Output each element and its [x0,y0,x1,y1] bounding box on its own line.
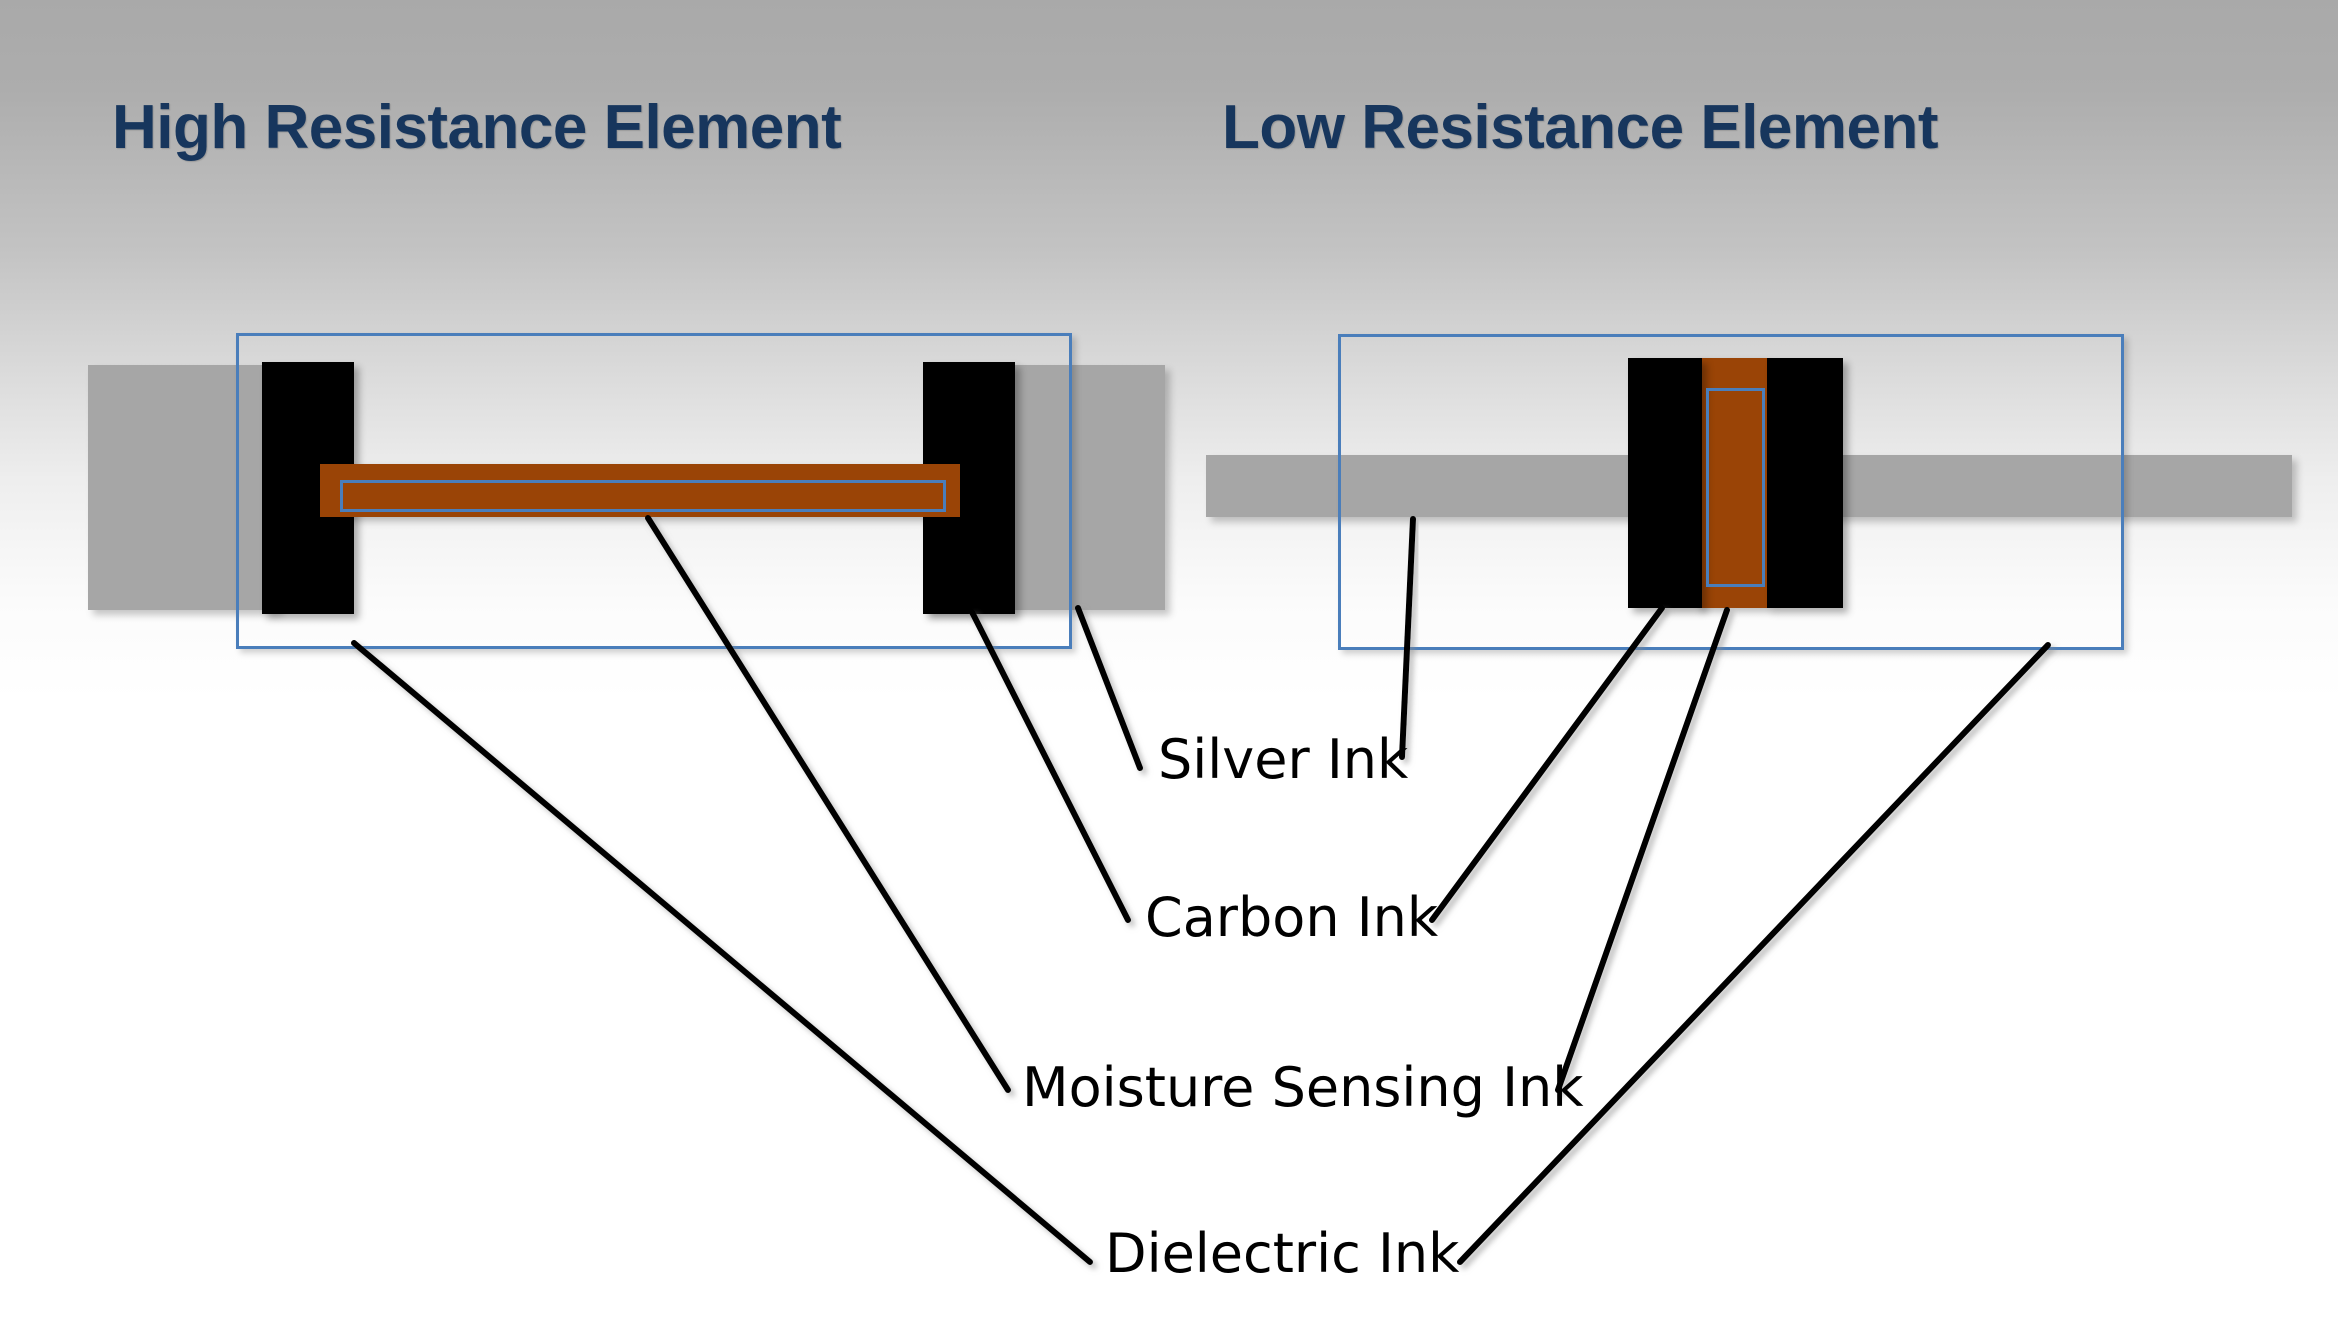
leader-line-layer [0,0,2338,1326]
leader-line-low-moisture [1558,610,1727,1090]
low-dielectric-ink-outer-outline [1338,334,2124,650]
label-dielectric-ink: Dielectric Ink [1105,1222,1459,1285]
leader-line-high-carbon [972,612,1128,920]
leader-line-high-dielectric [354,643,1090,1262]
diagram-canvas: High Resistance Element Low Resistance E… [0,0,2338,1326]
leader-line-low-dielectric [1460,645,2048,1262]
leader-line-low-carbon [1432,608,1662,920]
panel-title-high-resistance: High Resistance Element [112,92,841,163]
high-dielectric-ink-outer-outline [236,333,1072,649]
label-carbon-ink: Carbon Ink [1145,886,1438,949]
leader-line-high-silver [1078,608,1140,768]
panel-title-low-resistance: Low Resistance Element [1222,92,1938,163]
label-moisture-sensing-ink: Moisture Sensing Ink [1022,1056,1584,1119]
label-silver-ink: Silver Ink [1158,728,1408,791]
